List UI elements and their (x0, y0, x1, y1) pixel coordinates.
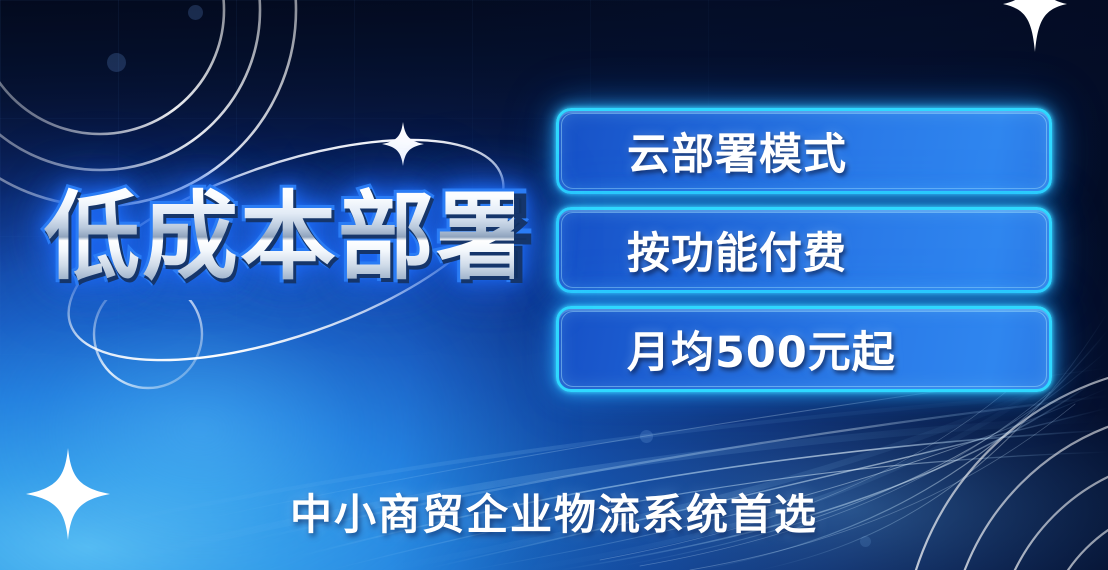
feature-button-label: 云部署模式 (627, 120, 847, 182)
feature-button-label: 按功能付费 (627, 219, 847, 281)
promo-banner: 低成本部署 低成本部署 低成本部署 云部署模式 按功能付费 月均500元起 中小… (0, 0, 1108, 570)
background-dot (640, 430, 653, 443)
feature-button-list: 云部署模式 按功能付费 月均500元起 (556, 108, 1052, 405)
feature-button-label: 月均500元起 (627, 318, 896, 380)
feature-button-pay-per-feature[interactable]: 按功能付费 (556, 207, 1052, 293)
feature-button-monthly-price[interactable]: 月均500元起 (556, 306, 1052, 392)
page-title: 低成本部署 (44, 178, 514, 296)
feature-button-cloud-deployment[interactable]: 云部署模式 (556, 108, 1052, 194)
banner-caption: 中小商贸企业物流系统首选 (0, 481, 1108, 542)
background-dot (188, 5, 203, 20)
headline-group: 低成本部署 低成本部署 低成本部署 (44, 178, 514, 298)
background-dot (107, 53, 126, 72)
